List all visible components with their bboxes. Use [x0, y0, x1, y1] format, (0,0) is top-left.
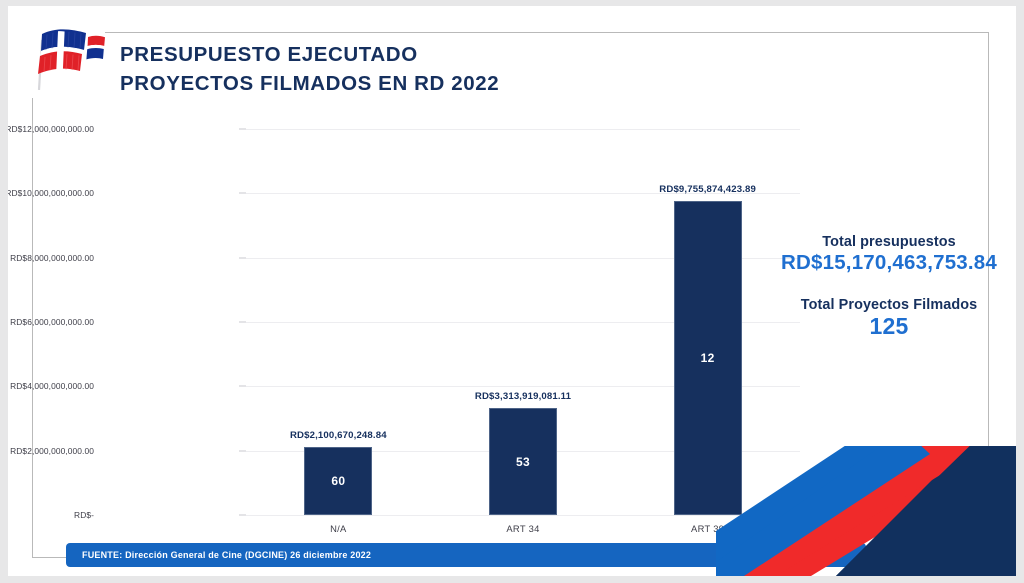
- chart-plot-area: RD$12,000,000,000.00RD$10,000,000,000.00…: [246, 129, 800, 515]
- slide-frame-left: [32, 98, 33, 558]
- chart-x-axis-label: ART 39: [633, 523, 783, 534]
- total-projects-value: 125: [778, 313, 1000, 339]
- chart-y-tick-label: RD$4,000,000,000.00: [8, 381, 94, 391]
- chart-x-axis-label: N/A: [263, 523, 413, 534]
- chart-bar-value-label: RD$3,313,919,081.11: [475, 391, 571, 402]
- slide-screenshot: PRESUPUESTO EJECUTADO PROYECTOS FILMADOS…: [0, 0, 1024, 583]
- chart-bar-value-label: RD$9,755,874,423.89: [659, 184, 756, 195]
- chart-bar[interactable]: 53: [489, 408, 557, 515]
- chart-y-tick-label: RD$10,000,000,000.00: [8, 188, 94, 198]
- total-projects-label: Total Proyectos Filmados: [778, 297, 1000, 313]
- chart-y-tick-mark: [239, 386, 246, 387]
- chart-y-tick-mark: [239, 450, 246, 451]
- footer-source-text: FUENTE: Dirección General de Cine (DGCIN…: [82, 550, 371, 560]
- chart-y-tick-mark: [239, 193, 246, 194]
- chart-bar-group[interactable]: 53RD$3,313,919,081.11ART 34: [448, 129, 598, 515]
- chart-bar-value-label: RD$2,100,670,248.84: [290, 430, 387, 441]
- chart-bar-group[interactable]: 60RD$2,100,670,248.84N/A: [263, 129, 413, 515]
- total-budget-label: Total presupuestos: [778, 234, 1000, 250]
- chart-y-tick-mark: [239, 257, 246, 258]
- bar-chart: RD$12,000,000,000.00RD$10,000,000,000.00…: [116, 116, 816, 536]
- slide-canvas: PRESUPUESTO EJECUTADO PROYECTOS FILMADOS…: [8, 6, 1016, 576]
- chart-bars: 60RD$2,100,670,248.84N/A53RD$3,313,919,0…: [246, 129, 800, 515]
- total-budget-value: RD$15,170,463,753.84: [778, 250, 1000, 275]
- chart-y-tick-mark: [239, 322, 246, 323]
- slide-frame-top: [105, 32, 989, 33]
- chart-y-tick-mark: [239, 129, 246, 130]
- chart-y-tick-label: RD$8,000,000,000.00: [8, 253, 94, 263]
- page-title-line-2: PROYECTOS FILMADOS EN RD 2022: [120, 69, 499, 98]
- chart-bar-count-label: 60: [305, 474, 371, 488]
- footer-source-bar: FUENTE: Dirección General de Cine (DGCIN…: [66, 543, 866, 567]
- chart-bar-group[interactable]: 12RD$9,755,874,423.89ART 39: [633, 129, 783, 515]
- chart-bar-count-label: 53: [490, 455, 556, 469]
- chart-bar-count-label: 12: [675, 351, 741, 365]
- chart-y-tick-label: RD$6,000,000,000.00: [8, 317, 94, 327]
- chart-y-tick-label: RD$12,000,000,000.00: [8, 124, 94, 134]
- page-title: PRESUPUESTO EJECUTADO PROYECTOS FILMADOS…: [120, 40, 499, 98]
- chart-x-axis-label: ART 34: [448, 523, 598, 534]
- dominican-republic-flag-logo: [22, 20, 108, 90]
- chart-y-tick-label: RD$-: [8, 510, 94, 520]
- chart-y-tick-label: RD$2,000,000,000.00: [8, 446, 94, 456]
- chart-bar[interactable]: 60: [304, 447, 372, 515]
- chart-gridline: [246, 515, 800, 516]
- totals-spacer: [778, 275, 1000, 297]
- page-title-line-1: PRESUPUESTO EJECUTADO: [120, 40, 499, 69]
- chart-y-tick-mark: [239, 515, 246, 516]
- chart-bar[interactable]: 12: [674, 201, 742, 515]
- totals-panel: Total presupuestos RD$15,170,463,753.84 …: [778, 234, 1000, 339]
